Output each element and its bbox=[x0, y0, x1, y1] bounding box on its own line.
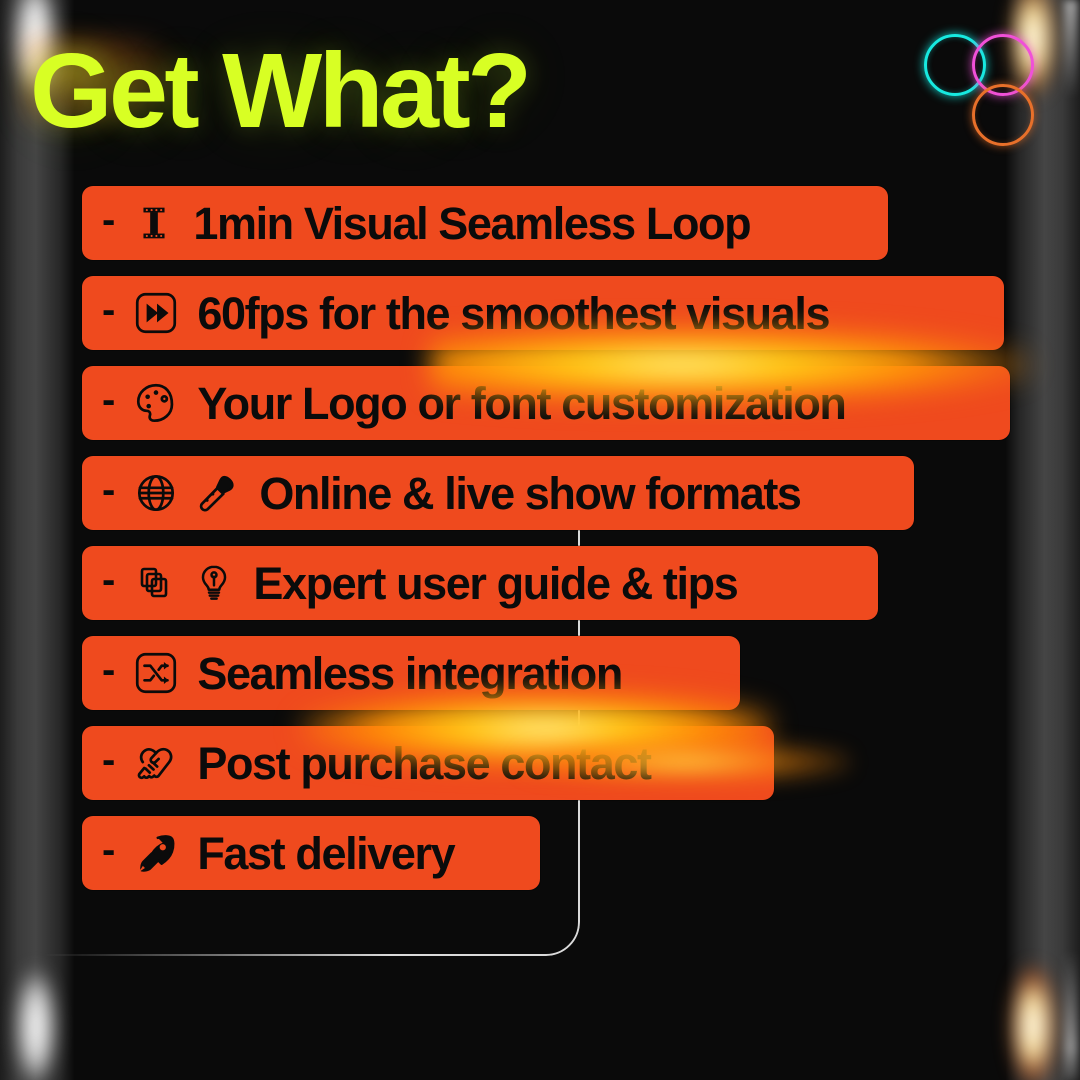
logo-ring-orange-icon bbox=[972, 84, 1034, 146]
feature-icons bbox=[131, 738, 181, 788]
feature-label: Your Logo or font customization bbox=[197, 381, 845, 426]
bullet-dash: - bbox=[102, 740, 115, 780]
bullet-dash: - bbox=[102, 560, 115, 600]
palette-icon bbox=[131, 378, 181, 428]
feature-label: Seamless integration bbox=[197, 651, 622, 696]
microphone-icon bbox=[193, 468, 243, 518]
lightbulb-icon bbox=[191, 560, 237, 606]
right-bottom-specular-highlight bbox=[1010, 966, 1056, 1080]
feature-list: -1min Visual Seamless Loop-60fps for the… bbox=[82, 186, 1010, 906]
feature-icons bbox=[131, 200, 177, 246]
feature-row[interactable]: -1min Visual Seamless Loop bbox=[82, 186, 888, 260]
feature-label: Online & live show formats bbox=[259, 471, 800, 516]
globe-icon bbox=[131, 468, 181, 518]
poster-canvas: Get What? -1min Visual Seamless Loop-60f… bbox=[0, 0, 1080, 1080]
bullet-dash: - bbox=[102, 290, 115, 330]
bullet-dash: - bbox=[102, 650, 115, 690]
fast-forward-icon bbox=[131, 288, 181, 338]
feature-row[interactable]: -Online & live show formats bbox=[82, 456, 914, 530]
bullet-dash: - bbox=[102, 830, 115, 870]
handshake-icon bbox=[131, 738, 181, 788]
stacked-cards-icon bbox=[131, 559, 179, 607]
rocket-icon bbox=[131, 828, 181, 878]
feature-row[interactable]: -Your Logo or font customization bbox=[82, 366, 1010, 440]
bullet-dash: - bbox=[102, 470, 115, 510]
feature-row[interactable]: -Expert user guide & tips bbox=[82, 546, 878, 620]
feature-icons bbox=[131, 559, 237, 607]
right-edge-gutter bbox=[1006, 0, 1080, 1080]
feature-label: Post purchase contact bbox=[197, 741, 650, 786]
feature-icons bbox=[131, 468, 243, 518]
feature-icons bbox=[131, 378, 181, 428]
feature-row[interactable]: -Post purchase contact bbox=[82, 726, 774, 800]
feature-icons bbox=[131, 828, 181, 878]
shuffle-icon bbox=[131, 648, 181, 698]
feature-label: 60fps for the smoothest visuals bbox=[197, 291, 829, 336]
feature-row[interactable]: -60fps for the smoothest visuals bbox=[82, 276, 1004, 350]
feature-row[interactable]: -Fast delivery bbox=[82, 816, 540, 890]
right-edge-sheen bbox=[1064, 0, 1078, 1080]
feature-icons bbox=[131, 288, 181, 338]
feature-label: Expert user guide & tips bbox=[253, 561, 737, 606]
three-rings-logo bbox=[924, 34, 1042, 154]
feature-label: 1min Visual Seamless Loop bbox=[193, 201, 750, 246]
bullet-dash: - bbox=[102, 200, 115, 240]
feature-row[interactable]: -Seamless integration bbox=[82, 636, 740, 710]
page-title: Get What? bbox=[30, 38, 528, 144]
film-frames-icon bbox=[131, 200, 177, 246]
bullet-dash: - bbox=[102, 380, 115, 420]
left-edge-gutter bbox=[0, 0, 74, 1080]
feature-label: Fast delivery bbox=[197, 831, 454, 876]
feature-icons bbox=[131, 648, 181, 698]
left-bottom-specular-highlight bbox=[16, 968, 56, 1080]
